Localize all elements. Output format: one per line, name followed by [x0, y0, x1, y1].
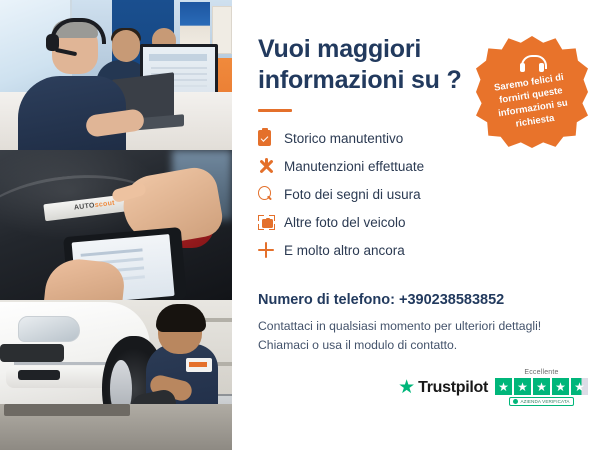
vehicle-inspection-tablet-photo: AUTOscout — [0, 150, 232, 300]
clipboard-check-icon — [258, 127, 284, 149]
feature-label: Storico manutentivo — [284, 131, 403, 146]
tablet-screen-lines — [81, 248, 143, 256]
trustpilot-rating: Eccellente ★ ★ ★ ★ ★ AZIENDA VERIFICATA — [495, 369, 588, 406]
list-item: Foto dei segni di usura — [258, 180, 508, 208]
monitor-screen-rows — [151, 67, 207, 69]
promo-banner: AUTOscout — [0, 0, 600, 450]
info-panel: Vuoi maggiori informazioni su ? Saremo f… — [232, 0, 600, 450]
list-item: Manutenzioni effettuate — [258, 152, 508, 180]
trustpilot-logo: ★ Trustpilot — [398, 378, 488, 397]
title-divider — [258, 109, 292, 112]
feature-label: Foto dei segni di usura — [284, 187, 421, 202]
phone-number[interactable]: +390238583852 — [399, 292, 504, 308]
rating-stars: ★ ★ ★ ★ ★ — [495, 378, 588, 395]
list-item: Storico manutentivo — [258, 124, 508, 152]
list-item: E molto altro ancora — [258, 236, 508, 264]
feature-label: Manutenzioni effettuate — [284, 159, 424, 174]
car-chrome-trim — [14, 362, 106, 365]
camera-scan-icon — [258, 211, 284, 233]
trustpilot-widget[interactable]: ★ Trustpilot Eccellente ★ ★ ★ ★ ★ AZIEND… — [398, 369, 588, 406]
trustpilot-star-icon: ★ — [398, 378, 415, 397]
star-filled: ★ — [552, 378, 569, 395]
verified-check-icon — [513, 399, 518, 404]
plus-icon — [258, 239, 284, 261]
rating-label: Eccellente — [524, 369, 558, 376]
mechanic-hair — [156, 304, 206, 332]
contact-instructions: Contattaci in qualsiasi momento per ulte… — [258, 317, 578, 354]
headset-icon — [521, 55, 543, 72]
feature-list: Storico manutentivo Manutenzioni effettu… — [258, 124, 508, 264]
car-grille — [0, 344, 64, 362]
feature-label: Altre foto del veicolo — [284, 215, 406, 230]
phone-line: Numero di telefono: +390238583852 — [258, 292, 578, 308]
call-center-agent-photo — [0, 0, 232, 150]
vehicle-lift-arm — [4, 404, 130, 416]
star-partial: ★ — [571, 378, 588, 395]
feature-label: E molto altro ancora — [284, 243, 405, 258]
star-filled: ★ — [533, 378, 550, 395]
photo-column: AUTOscout — [0, 0, 232, 450]
trustpilot-wordmark: Trustpilot — [418, 379, 488, 397]
mechanic-uniform-badge — [186, 358, 212, 372]
strip-brand-logo: AUTOscout — [74, 200, 116, 212]
mechanic-wheel-photo — [0, 300, 232, 450]
magnifier-icon — [258, 183, 284, 205]
monitor-screen-toolbar — [149, 54, 207, 61]
contact-line-2: Chiamaci o usa il modulo di contatto. — [258, 336, 578, 355]
second-agent-head — [112, 30, 140, 62]
car-foglight — [18, 370, 60, 380]
headset-earcup-left — [520, 63, 525, 72]
page-title: Vuoi maggiori informazioni su ? — [258, 34, 463, 95]
verified-label: AZIENDA VERIFICATA — [520, 399, 569, 404]
star-filled: ★ — [514, 378, 531, 395]
star-filled: ★ — [495, 378, 512, 395]
contact-line-1: Contattaci in qualsiasi momento per ulte… — [258, 317, 578, 336]
phone-label: Numero di telefono: — [258, 292, 395, 308]
car-headlight — [18, 316, 80, 342]
callout-badge: Saremo felici di fornirti queste informa… — [476, 36, 588, 148]
verified-business-badge: AZIENDA VERIFICATA — [509, 397, 573, 406]
list-item: Altre foto del veicolo — [258, 208, 508, 236]
headset-earcup-right — [539, 63, 544, 72]
tools-icon — [258, 155, 284, 177]
